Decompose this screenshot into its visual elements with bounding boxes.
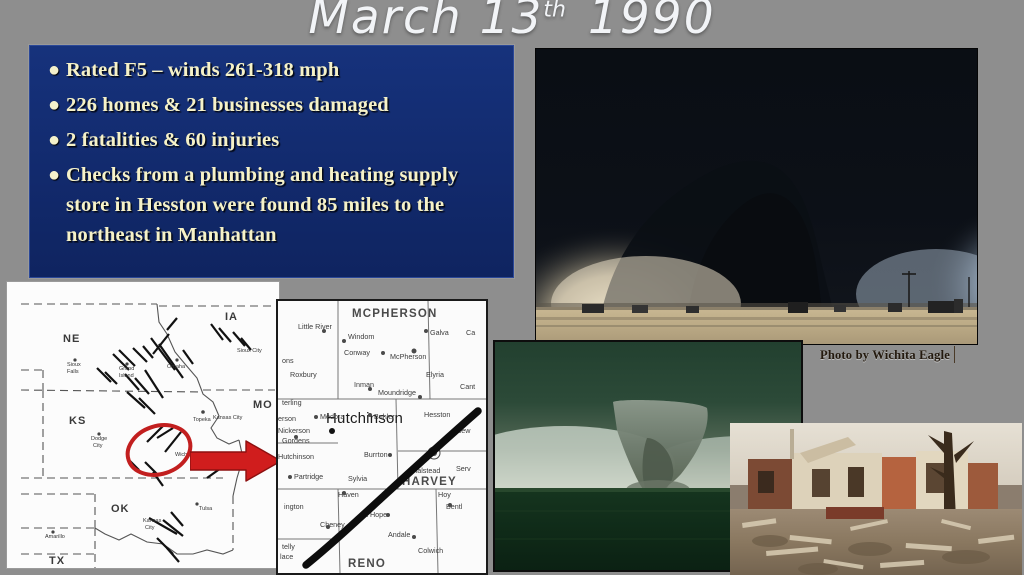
svg-text:MO: MO	[253, 399, 273, 411]
svg-text:Medora: Medora	[320, 412, 344, 421]
svg-text:Haven: Haven	[338, 490, 359, 499]
svg-text:Kansas: Kansas	[143, 518, 162, 524]
bullet-dot-icon: ●	[42, 125, 66, 155]
bullet-text: Checks from a plumbing and heating suppl…	[66, 160, 503, 250]
damage-image	[730, 423, 1022, 575]
svg-text:McPherson: McPherson	[390, 352, 426, 361]
svg-text:ington: ington	[284, 502, 304, 511]
svg-text:City: City	[93, 443, 103, 449]
svg-text:KS: KS	[69, 415, 86, 427]
svg-text:RENO: RENO	[348, 558, 386, 570]
svg-text:Ca: Ca	[466, 328, 475, 337]
photo-credit: Photo by Wichita Eagle	[820, 348, 950, 363]
regional-map-graphic: NE IA KS MO OK TX	[7, 282, 279, 568]
title-year: 1990	[588, 0, 716, 45]
svg-text:Hesston: Hesston	[424, 410, 450, 419]
svg-text:Moundridge: Moundridge	[378, 388, 416, 397]
svg-text:Hoy: Hoy	[438, 490, 451, 499]
svg-text:ons: ons	[282, 356, 294, 365]
svg-text:NE: NE	[63, 333, 80, 345]
svg-text:Andale: Andale	[388, 530, 410, 539]
svg-text:Little River: Little River	[298, 322, 333, 331]
svg-text:Serv: Serv	[456, 464, 471, 473]
regional-map: NE IA KS MO OK TX	[6, 281, 280, 569]
svg-text:Falls: Falls	[67, 369, 79, 375]
svg-text:Tulsa: Tulsa	[199, 506, 213, 512]
svg-text:Sioux City: Sioux City	[237, 348, 262, 354]
slide-canvas: March 13th1990 ● Rated F5 – winds 261-31…	[0, 0, 1024, 575]
svg-text:lace: lace	[280, 552, 293, 561]
svg-text:Sylvia: Sylvia	[348, 474, 367, 483]
svg-text:Kansas City: Kansas City	[213, 415, 243, 421]
list-item: ● 2 fatalities & 60 injuries	[42, 125, 503, 155]
svg-text:Grand: Grand	[119, 366, 134, 372]
svg-text:terling: terling	[282, 398, 302, 407]
list-item: ● Checks from a plumbing and heating sup…	[42, 160, 503, 250]
svg-text:Buhler: Buhler	[374, 412, 395, 421]
svg-text:Amarillo: Amarillo	[45, 534, 65, 540]
svg-text:Omaha: Omaha	[167, 364, 186, 370]
svg-text:Windom: Windom	[348, 332, 374, 341]
tornado-main-image	[536, 49, 978, 345]
svg-text:HARVEY: HARVEY	[402, 476, 457, 488]
bullet-dot-icon: ●	[42, 55, 66, 85]
svg-text:Cant: Cant	[460, 382, 475, 391]
svg-text:Conway: Conway	[344, 348, 370, 357]
bullet-text: Rated F5 – winds 261-318 mph	[66, 55, 339, 85]
svg-text:Dodge: Dodge	[91, 436, 107, 442]
svg-text:Sioux: Sioux	[67, 362, 81, 368]
title-date: March 13	[308, 0, 543, 45]
svg-text:Nickerson: Nickerson	[278, 426, 310, 435]
svg-text:Hutchinson: Hutchinson	[278, 452, 314, 461]
svg-text:Elyria: Elyria	[426, 370, 444, 379]
bullet-panel: ● Rated F5 – winds 261-318 mph ● 226 hom…	[29, 45, 514, 278]
title-ordinal-suffix: th	[543, 0, 566, 22]
damage-photo	[730, 423, 1022, 575]
tornado-main-photo	[535, 48, 978, 345]
svg-text:Burrton: Burrton	[364, 450, 388, 459]
svg-text:City: City	[145, 525, 155, 531]
bullet-text: 2 fatalities & 60 injuries	[66, 125, 279, 155]
detail-map-graphic: MCPHERSON HARVEY RENO Hutchinson Little …	[278, 301, 486, 573]
svg-text:Cheney: Cheney	[320, 520, 345, 529]
svg-text:Partridge: Partridge	[294, 472, 323, 481]
svg-text:Galva: Galva	[430, 328, 449, 337]
svg-text:telly: telly	[282, 542, 295, 551]
svg-text:Colwich: Colwich	[418, 546, 443, 555]
svg-text:Bentl: Bentl	[446, 502, 463, 511]
svg-text:IA: IA	[225, 311, 238, 323]
list-item: ● Rated F5 – winds 261-318 mph	[42, 55, 503, 85]
bullet-dot-icon: ●	[42, 160, 66, 190]
svg-text:Topeka: Topeka	[193, 417, 212, 423]
svg-text:TX: TX	[49, 555, 65, 567]
page-title: March 13th1990	[0, 0, 1024, 45]
svg-text:MCPHERSON: MCPHERSON	[352, 308, 438, 320]
red-arrow-icon	[190, 440, 282, 482]
svg-text:Island: Island	[119, 373, 134, 379]
bullet-dot-icon: ●	[42, 90, 66, 120]
svg-text:Roxbury: Roxbury	[290, 370, 317, 379]
detail-map: MCPHERSON HARVEY RENO Hutchinson Little …	[276, 299, 488, 575]
bullet-text: 226 homes & 21 businesses damaged	[66, 90, 389, 120]
svg-text:erson: erson	[278, 414, 296, 423]
svg-text:OK: OK	[111, 503, 130, 515]
list-item: ● 226 homes & 21 businesses damaged	[42, 90, 503, 120]
